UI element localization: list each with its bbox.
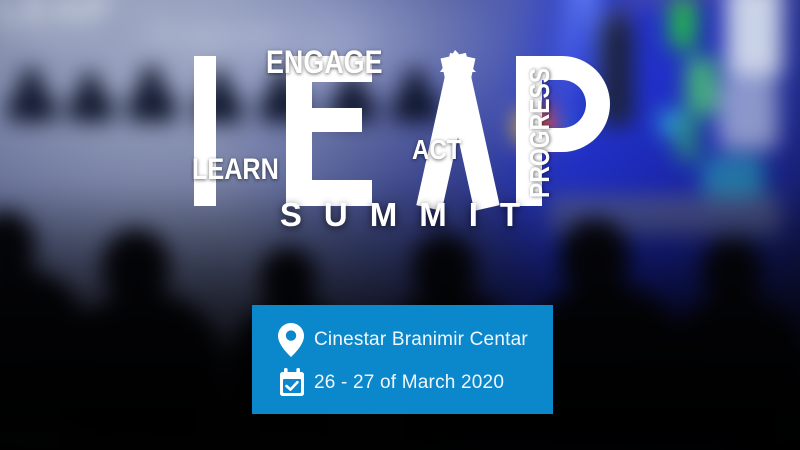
event-date: 26 - 27 of March 2020 — [314, 372, 504, 394]
date-row: 26 - 27 of March 2020 — [278, 364, 553, 402]
venue-row: Cinestar Branimir Centar — [278, 321, 553, 359]
event-info-panel: Cinestar Branimir Centar 26 - 27 of Marc… — [252, 305, 553, 414]
event-poster: LEAP SUMMIT Progress LEAP — [0, 0, 800, 450]
venue-name: Cinestar Branimir Centar — [314, 329, 528, 351]
calendar-check-icon — [278, 368, 314, 398]
location-pin-icon — [278, 323, 314, 357]
